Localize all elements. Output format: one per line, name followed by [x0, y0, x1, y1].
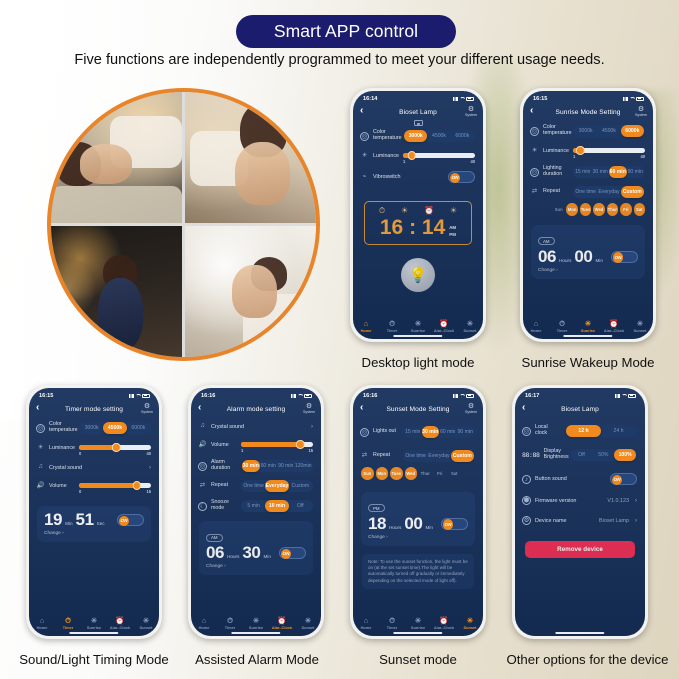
brightness-icon: ☀: [360, 152, 369, 161]
meridiem-badge: AM: [538, 237, 555, 245]
row-snooze-mode[interactable]: ☾ Snooze mode 5 min 10 min Off: [191, 496, 321, 516]
firmware-value: V1.0.123: [607, 498, 629, 504]
volume-max: 15: [146, 489, 151, 494]
day-sat[interactable]: Sat: [634, 203, 645, 216]
back-button[interactable]: ‹: [530, 106, 538, 116]
row-repeat[interactable]: ⇄ Repeat One time Everyday Custom: [523, 182, 653, 202]
row-display-brightness[interactable]: 88:88 Display Brightness Off 50% 100%: [515, 441, 645, 465]
clock-pm: PM: [449, 232, 456, 237]
sunrise-icon: ☀: [405, 320, 431, 329]
change-link[interactable]: Change ›: [538, 268, 638, 273]
firmware-icon: ⬢: [522, 496, 531, 505]
chevron-right-icon: ›: [635, 518, 637, 524]
device-icon: ⚙: [522, 516, 531, 525]
phone-sunrise-wakeup: 16:15 ‹ Sunrise Mode Setting ⚙System ◎ C…: [520, 88, 656, 342]
seg-option-6000k[interactable]: 6000k: [621, 125, 644, 137]
volume-slider[interactable]: 115: [241, 439, 313, 452]
row-luminance[interactable]: ☀ Luminance 040: [29, 438, 159, 459]
repeat-label: Repeat: [543, 189, 569, 195]
battery-icon: [466, 394, 474, 398]
alarm-clock-icon: ⏰: [107, 617, 133, 626]
system-button[interactable]: ⚙System: [465, 106, 477, 117]
photo-reading-woman: [185, 92, 316, 223]
seg-option-3000k[interactable]: 3000k: [404, 130, 427, 142]
seg-option-custom[interactable]: Custom: [289, 480, 312, 492]
seg-option-off[interactable]: Off: [571, 449, 593, 461]
gear-icon: ⚙: [635, 106, 647, 113]
timer-toggle[interactable]: ON: [117, 514, 144, 526]
seg-option-everyday[interactable]: Everyday: [597, 186, 620, 198]
color-temp-label: Color temperature: [373, 130, 399, 141]
tab-home[interactable]: ⌂Home: [29, 617, 55, 631]
status-time: 16:14: [363, 96, 377, 102]
photo-woman-night-window: [51, 226, 182, 357]
duration-label: Lighting duration: [543, 166, 569, 177]
tab-home[interactable]: ⌂Home: [191, 617, 217, 631]
home-indicator: [393, 632, 442, 634]
back-button[interactable]: ‹: [522, 403, 530, 413]
seg-option-4500k[interactable]: 4500k: [597, 125, 620, 137]
speaker-icon: 🔊: [36, 482, 45, 491]
duration-icon: ◎: [530, 168, 539, 177]
signal-icon: [623, 97, 628, 101]
tab-home[interactable]: ⌂Home: [523, 320, 549, 334]
tab-sunset[interactable]: ☀Sunset: [627, 320, 653, 334]
duration-icon: ◎: [198, 462, 207, 471]
seg-option-15min[interactable]: 15 min: [574, 166, 592, 178]
repeat-icon: ⇄: [360, 452, 369, 461]
speaker-icon: 🔊: [198, 441, 207, 450]
phone-alarm-mode: 16:16 ‹ Alarm mode setting ⚙System ♫ Cry…: [188, 385, 324, 639]
row-lighting-duration[interactable]: ◎ Lighting duration 15 min 30 min 60 min…: [523, 162, 653, 182]
chevron-right-icon: ›: [635, 498, 637, 504]
sunrise-icon: ☀: [81, 617, 107, 626]
color-temp-label: Color temperature: [49, 422, 75, 433]
color-temp-segmented[interactable]: 3000k 4500k 6000k: [403, 130, 475, 142]
sunset-icon: ☀: [450, 206, 457, 216]
meridiem-badge: AM: [206, 534, 223, 542]
seg-option-90min[interactable]: 90 min: [457, 426, 475, 438]
home-icon: ⌂: [353, 320, 379, 329]
luminance-max: 40: [640, 154, 645, 159]
local-clock-label: Local clock: [535, 425, 561, 436]
display-brightness-label: Display Brightness: [544, 449, 566, 460]
tab-home[interactable]: ⌂Home: [353, 320, 379, 334]
app-title: Sunrise Mode Setting: [555, 109, 620, 116]
home-indicator: [231, 632, 280, 634]
row-color-temperature[interactable]: ◎ Color temperature 3000k 4500k 6000k: [353, 126, 483, 146]
seg-option-12h[interactable]: 12 h: [566, 425, 601, 437]
home-indicator: [555, 632, 604, 634]
timer-card[interactable]: 19 Min 51 Sec ON Change ›: [37, 506, 151, 542]
app-bar: ‹ Alarm mode setting ⚙System: [191, 401, 321, 418]
phone-timer-mode: 16:15 ‹ Timer mode setting ⚙System ◎ Col…: [26, 385, 162, 639]
luminance-slider[interactable]: 140: [573, 145, 645, 158]
timer-icon: ⏱: [549, 320, 575, 329]
day-sat[interactable]: Sat: [448, 467, 461, 480]
home-indicator: [563, 335, 612, 337]
wifi-icon: [459, 97, 464, 101]
volume-slider[interactable]: 015: [79, 480, 151, 493]
gear-icon: ⚙: [303, 403, 315, 410]
row-lights-out[interactable]: ◎ Lights out 15 min 30 min 60 min 90 min: [353, 418, 483, 442]
system-label: System: [303, 410, 315, 414]
day-sun[interactable]: Sun: [553, 203, 564, 216]
brightness-segmented[interactable]: Off 50% 100%: [570, 449, 637, 461]
wifi-icon: [297, 394, 302, 398]
day-thur[interactable]: Thur: [607, 203, 618, 216]
minutes-unit: Min: [425, 525, 432, 530]
toggle-state: ON: [612, 475, 622, 485]
seg-option-30min[interactable]: 30 min: [592, 166, 610, 178]
button-sound-icon: ♪: [522, 475, 531, 484]
color-temp-label: Color temperature: [543, 125, 569, 136]
sunrise-icon: ☀: [243, 617, 269, 626]
page-subtitle: Five functions are independently program…: [0, 52, 679, 68]
duration-segmented[interactable]: 15 min 30 min 60 min 90 min: [573, 166, 645, 178]
repeat-segmented[interactable]: One time Everyday Custom: [241, 480, 313, 492]
seg-option-6000k[interactable]: 6000k: [451, 130, 474, 142]
phone-sunset-mode: 16:16 ‹ Sunset Mode Setting ⚙System ◎ Li…: [350, 385, 486, 639]
gear-icon: ⚙: [465, 403, 477, 410]
signal-icon: [453, 97, 458, 101]
seg-option-60min[interactable]: 60 min: [260, 460, 278, 472]
lamp-power-button[interactable]: 💡: [401, 258, 435, 292]
clock-am: AM: [449, 225, 456, 230]
minutes-unit: Min: [263, 554, 270, 559]
system-button[interactable]: ⚙System: [465, 403, 477, 414]
clock-mode-icons: ⏱ ☀ ⏰ ☀: [371, 206, 465, 216]
tab-sunrise[interactable]: ☀Sunrise: [243, 617, 269, 631]
status-time: 16:16: [201, 393, 215, 399]
lights-out-segmented[interactable]: 15 min 30 min 60 min 90 min: [403, 426, 475, 438]
day-mon[interactable]: Mon: [566, 203, 577, 216]
brightness-icon: ☀: [530, 147, 539, 156]
sunset-toggle[interactable]: ON: [441, 518, 468, 530]
alarm-clock-icon: ⏰: [269, 617, 295, 626]
timer-icon: ⏱: [217, 617, 243, 626]
alarm-duration-segmented[interactable]: 30 min 60 min 90 min 120min: [241, 460, 313, 472]
hours-unit: Hours: [389, 525, 401, 530]
day-fri[interactable]: Fri: [434, 467, 447, 480]
day-mon[interactable]: Mon: [376, 467, 389, 480]
signal-icon: [615, 394, 620, 398]
row-repeat[interactable]: ⇄ Repeat One time Everyday Custom: [353, 442, 483, 466]
home-indicator: [69, 632, 118, 634]
change-link[interactable]: Change ›: [44, 531, 144, 536]
battery-icon: [466, 97, 474, 101]
caption-alarm-mode: Assisted Alarm Mode: [182, 652, 332, 667]
sunset-icon: ☀: [457, 617, 483, 626]
tab-alarm-clock[interactable]: ⏰Alar.-Clock: [269, 617, 295, 631]
tab-timer[interactable]: ⏱Timer: [55, 617, 81, 631]
seg-option-everyday[interactable]: Everyday: [427, 450, 450, 462]
color-temp-segmented[interactable]: 3000k 4500k 6000k: [79, 422, 151, 434]
color-temp-segmented[interactable]: 3000k 4500k 6000k: [573, 125, 645, 137]
wifi-icon: [135, 394, 140, 398]
seg-option-90min[interactable]: 90 min: [277, 460, 295, 472]
crystal-sound-label: Crystal sound: [49, 465, 82, 471]
system-button[interactable]: ⚙System: [141, 403, 153, 414]
vibroswitch-toggle[interactable]: ON: [448, 171, 475, 183]
page-title: Smart APP control: [236, 15, 456, 48]
status-bar: 16:17: [515, 388, 645, 401]
seg-option-100[interactable]: 100%: [614, 449, 636, 461]
status-bar: 16:14: [353, 91, 483, 104]
row-color-temperature[interactable]: ◎ Color temperature 3000k 4500k 6000k: [29, 418, 159, 438]
system-label: System: [141, 410, 153, 414]
clock-widget: ⏱ ☀ ⏰ ☀ 16 : 14 AM PM: [364, 201, 472, 245]
tab-sunset[interactable]: ☀Sunset: [295, 617, 321, 631]
seg-option-everyday[interactable]: Everyday: [265, 480, 288, 492]
row-volume[interactable]: 🔊 Volume 115: [191, 435, 321, 456]
caption-device-options: Other options for the device: [496, 652, 679, 667]
caption-sunrise-wakeup: Sunrise Wakeup Mode: [518, 355, 658, 370]
snooze-segmented[interactable]: 5 min 10 min Off: [241, 500, 313, 512]
day-sun[interactable]: Sun: [361, 467, 374, 480]
row-crystal-sound[interactable]: ♫ Crystal sound ›: [29, 459, 159, 476]
row-device-name[interactable]: ⚙ Device name Bioset Lamp ›: [515, 509, 645, 529]
color-temp-icon: ◎: [530, 127, 539, 136]
wifi-icon: [621, 394, 626, 398]
luminance-max: 40: [470, 159, 475, 164]
seg-option-15min[interactable]: 15 min: [404, 426, 422, 438]
toggle-state: ON: [119, 516, 129, 526]
luminance-slider[interactable]: 040: [79, 442, 151, 455]
firmware-label: Firmware version: [535, 498, 576, 504]
home-icon: ⌂: [29, 617, 55, 626]
system-label: System: [635, 113, 647, 117]
volume-label: Volume: [211, 443, 237, 449]
tab-alarm-clock[interactable]: ⏰Alar.-Clock: [431, 320, 457, 334]
day-wed[interactable]: Wed: [593, 203, 604, 216]
snooze-label: Snooze mode: [211, 500, 237, 511]
alarm-toggle[interactable]: ON: [611, 251, 638, 263]
tab-sunrise[interactable]: ☀Sunrise: [81, 617, 107, 631]
seg-option-4500k[interactable]: 4500k: [427, 130, 450, 142]
system-label: System: [465, 410, 477, 414]
home-icon: ⌂: [191, 617, 217, 626]
sunrise-icon: ☀: [401, 206, 408, 216]
app-title: Timer mode setting: [65, 406, 123, 413]
seg-option-30min[interactable]: 30 min: [422, 426, 440, 438]
day-thur[interactable]: Thur: [419, 467, 432, 480]
luminance-slider[interactable]: 140: [403, 150, 475, 163]
row-luminance[interactable]: ☀ Luminance 140: [523, 141, 653, 162]
day-tues[interactable]: Tues: [390, 467, 403, 480]
tab-timer[interactable]: ⏱Timer: [217, 617, 243, 631]
seg-option-6000k[interactable]: 6000k: [127, 422, 150, 434]
status-bar: 16:16: [353, 388, 483, 401]
volume-label: Volume: [49, 484, 75, 490]
toggle-state: ON: [450, 173, 460, 183]
volume-max: 15: [308, 448, 313, 453]
music-note-icon: ♫: [198, 422, 207, 431]
back-button[interactable]: ‹: [36, 403, 44, 413]
caption-desktop-light: Desktop light mode: [350, 355, 486, 370]
luminance-label: Luminance: [373, 154, 399, 160]
local-clock-segmented[interactable]: 12 h 24 h: [565, 425, 637, 437]
app-title: Alarm mode setting: [227, 406, 286, 413]
tab-timer[interactable]: ⏱Timer: [379, 320, 405, 334]
phone-device-options: 16:17 ‹ Bioset Lamp ◎ Local clock 12 h 2…: [512, 385, 648, 639]
app-bar: ‹ Bioset Lamp ⚙System: [353, 104, 483, 121]
row-alarm-duration[interactable]: ◎ Alarm duration 30 min 60 min 90 min 12…: [191, 456, 321, 476]
seg-option-5min[interactable]: 5 min: [242, 500, 265, 512]
color-temp-icon: ◎: [36, 424, 45, 433]
home-icon: ⌂: [353, 617, 379, 626]
row-volume[interactable]: 🔊 Volume 015: [29, 476, 159, 497]
phone-desktop-light: 16:14 ‹ Bioset Lamp ⚙System ◎ Color temp…: [350, 88, 486, 342]
row-repeat[interactable]: ⇄ Repeat One time Everyday Custom: [191, 476, 321, 496]
status-time: 16:16: [363, 393, 377, 399]
tab-sunset[interactable]: ☀Sunset: [457, 617, 483, 631]
seg-option-onetime[interactable]: One time: [574, 186, 597, 198]
button-sound-toggle[interactable]: ON: [610, 473, 637, 485]
seg-option-custom[interactable]: Custom: [451, 450, 474, 462]
seg-option-90min[interactable]: 90 min: [627, 166, 645, 178]
status-bar: 16:15: [29, 388, 159, 401]
app-bar: ‹ Sunset Mode Setting ⚙System: [353, 401, 483, 418]
seg-option-off[interactable]: Off: [289, 500, 312, 512]
seg-option-24h[interactable]: 24 h: [601, 425, 636, 437]
battery-icon: [304, 394, 312, 398]
status-time: 16:17: [525, 393, 539, 399]
system-button[interactable]: ⚙System: [303, 403, 315, 414]
sunset-icon: ☀: [457, 320, 483, 329]
app-title: Bioset Lamp: [561, 406, 599, 413]
device-name-value: Bioset Lamp: [599, 518, 629, 524]
hours-value: 06: [206, 544, 224, 562]
tab-sunset[interactable]: ☀Sunset: [457, 320, 483, 334]
row-firmware-version[interactable]: ⬢ Firmware version V1.0.123 ›: [515, 489, 645, 509]
status-time: 16:15: [39, 393, 53, 399]
alarm-clock-icon: ⏰: [431, 320, 457, 329]
volume-min: 0: [79, 489, 81, 494]
vibroswitch-label: Vibroswitch: [373, 174, 400, 180]
tab-timer[interactable]: ⏱Timer: [549, 320, 575, 334]
tab-timer[interactable]: ⏱Timer: [379, 617, 405, 631]
seg-option-60min[interactable]: 60 min: [439, 426, 457, 438]
status-bar: 16:16: [191, 388, 321, 401]
change-link[interactable]: Change ›: [206, 564, 306, 569]
seg-option-3000k[interactable]: 3000k: [80, 422, 103, 434]
alarm-toggle[interactable]: ON: [279, 547, 306, 559]
timer-icon: ⏱: [55, 617, 81, 626]
seg-option-onetime[interactable]: One time: [242, 480, 265, 492]
repeat-icon: ⇄: [530, 188, 539, 197]
lifestyle-photo-collage: [47, 88, 320, 361]
device-badge-icon: [414, 120, 423, 126]
timer-icon: ⏱: [379, 617, 405, 626]
tab-alarm-clock[interactable]: ⏰Alar.-Clock: [431, 617, 457, 631]
back-button[interactable]: ‹: [198, 403, 206, 413]
system-label: System: [465, 113, 477, 117]
snooze-icon: ☾: [198, 502, 207, 511]
timer-icon: ⏱: [379, 206, 385, 216]
sunset-icon: ☀: [627, 320, 653, 329]
luminance-min: 1: [573, 154, 575, 159]
seg-option-onetime[interactable]: One time: [404, 450, 427, 462]
back-button[interactable]: ‹: [360, 106, 368, 116]
signal-icon: [129, 394, 134, 398]
seg-option-120min[interactable]: 120min: [295, 460, 313, 472]
row-local-clock[interactable]: ◎ Local clock 12 h 24 h: [515, 418, 645, 441]
alarm-clock-icon: ⏰: [601, 320, 627, 329]
status-time: 16:15: [533, 96, 547, 102]
back-button[interactable]: ‹: [360, 403, 368, 413]
alarm-time-card[interactable]: AM 06 Hours 30 Min ON Change ›: [199, 521, 313, 575]
row-luminance[interactable]: ☀ Luminance 140: [353, 146, 483, 167]
seg-option-4500k[interactable]: 4500k: [103, 422, 126, 434]
toggle-state: ON: [613, 252, 623, 262]
tab-sunrise[interactable]: ☀Sunrise: [575, 320, 601, 334]
home-icon: ⌂: [523, 320, 549, 329]
toggle-state: ON: [281, 549, 291, 559]
row-vibroswitch[interactable]: ⌁ Vibroswitch ON: [353, 167, 483, 187]
repeat-segmented[interactable]: One time Everyday Custom: [403, 450, 475, 462]
minutes-value: 30: [242, 544, 260, 562]
seg-option-50[interactable]: 50%: [592, 449, 614, 461]
tab-alarm-clock[interactable]: ⏰Alar.-Clock: [107, 617, 133, 631]
status-bar: 16:15: [523, 91, 653, 104]
sunset-time-card[interactable]: PM 18 Hours 00 Min ON Change ›: [361, 492, 475, 546]
luminance-min: 1: [403, 159, 405, 164]
gear-icon: ⚙: [141, 403, 153, 410]
row-color-temperature[interactable]: ◎ Color temperature 3000k 4500k 6000k: [523, 121, 653, 141]
row-crystal-sound[interactable]: ♫ Crystal sound ›: [191, 418, 321, 435]
crystal-sound-label: Crystal sound: [211, 424, 244, 430]
day-tues[interactable]: Tues: [580, 203, 591, 216]
seven-segment-icon: 88:88: [522, 451, 540, 459]
day-wed[interactable]: Wed: [405, 467, 418, 480]
timer-icon: ⏱: [379, 320, 405, 329]
caption-timer-mode: Sound/Light Timing Mode: [4, 652, 184, 667]
tab-sunrise[interactable]: ☀Sunrise: [405, 320, 431, 334]
battery-icon: [628, 394, 636, 398]
seg-option-custom[interactable]: Custom: [621, 186, 644, 198]
seg-option-3000k[interactable]: 3000k: [574, 125, 597, 137]
weekday-selector[interactable]: Sun Mon Tues Wed Thur Fri Sat: [523, 202, 653, 220]
home-indicator: [393, 335, 442, 337]
repeat-label: Repeat: [373, 453, 399, 459]
alarm-duration-label: Alarm duration: [211, 460, 237, 471]
seg-option-30min[interactable]: 30 min: [242, 460, 260, 472]
sunset-icon: ☀: [295, 617, 321, 626]
hours-unit: Hours: [227, 554, 239, 559]
tab-sunset[interactable]: ☀Sunset: [133, 617, 159, 631]
remove-device-button[interactable]: Remove device: [525, 541, 635, 558]
day-fri[interactable]: Fri: [620, 203, 631, 216]
hours-value: 06: [538, 248, 556, 266]
change-link[interactable]: Change ›: [368, 535, 468, 540]
alarm-time-card[interactable]: AM 06 Hours 00 Min ON Change ›: [531, 225, 645, 279]
clock-time: 16 : 14: [380, 217, 445, 239]
sunrise-icon: ☀: [575, 320, 601, 329]
repeat-segmented[interactable]: One time Everyday Custom: [573, 186, 645, 198]
tab-home[interactable]: ⌂Home: [353, 617, 379, 631]
volume-min: 1: [241, 448, 243, 453]
seg-option-10min[interactable]: 10 min: [265, 500, 288, 512]
seg-option-60min[interactable]: 60 min: [609, 166, 627, 178]
row-button-sound[interactable]: ♪ Button sound ON: [515, 465, 645, 489]
tab-alarm-clock[interactable]: ⏰Alar.-Clock: [601, 320, 627, 334]
weekday-selector[interactable]: Sun Mon Tues Wed Thur Fri Sat: [353, 466, 483, 484]
tab-sunrise[interactable]: ☀Sunrise: [405, 617, 431, 631]
system-button[interactable]: ⚙System: [635, 106, 647, 117]
minutes-value: 00: [574, 248, 592, 266]
repeat-icon: ⇄: [198, 482, 207, 491]
